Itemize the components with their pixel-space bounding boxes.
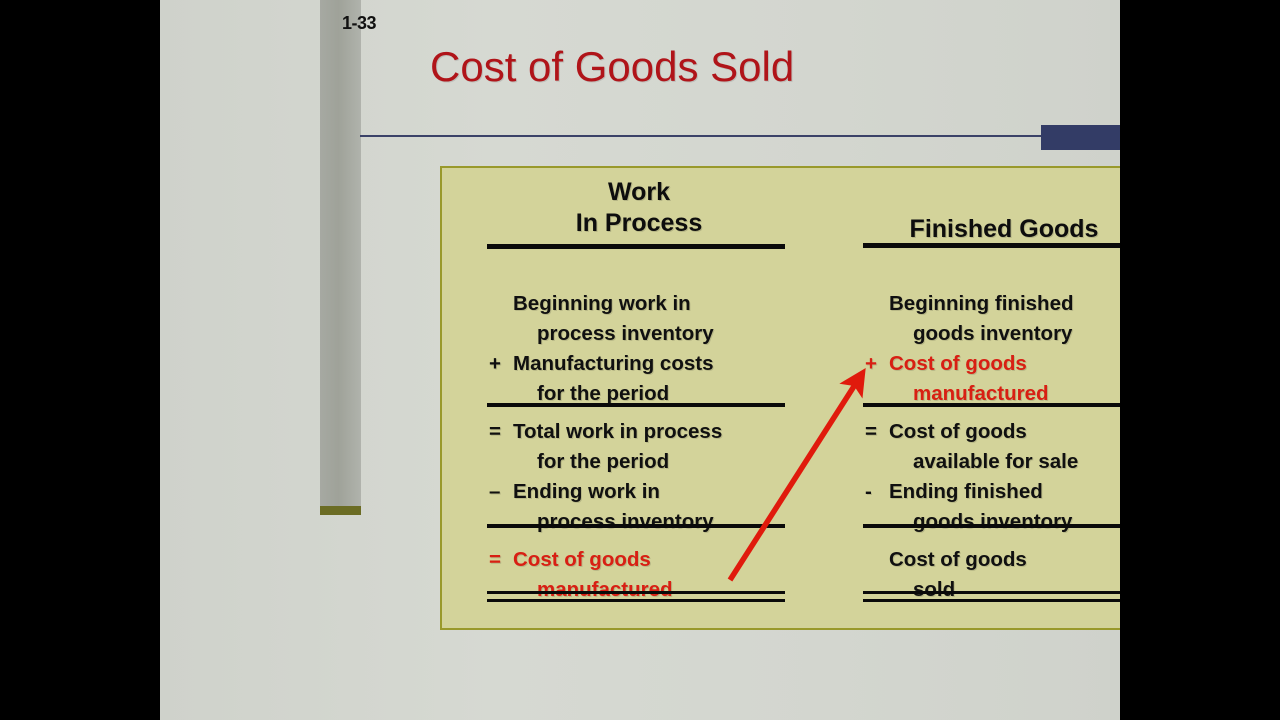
fg-subtotal-rule [863, 403, 1120, 407]
total-rule-gap [865, 537, 1120, 545]
cost-flow-panel: Work In Process Beginning work in proces… [440, 166, 1120, 630]
page-title: Cost of Goods Sold [430, 43, 794, 91]
item-line-1: Total work in process [513, 417, 789, 447]
item-line-2: process inventory [537, 319, 789, 349]
list-item: Beginning work in process inventory [489, 289, 789, 349]
item-line-2: for the period [537, 447, 789, 477]
work-in-process-heading-line2: In Process [489, 208, 789, 239]
item-line-1: Cost of goods [513, 545, 789, 575]
operator: = [489, 417, 507, 447]
work-in-process-heading: Work In Process [489, 168, 789, 238]
letterbox-bar-left [0, 0, 160, 720]
operator: - [865, 477, 883, 507]
left-decorative-band-foot [320, 506, 361, 515]
finished-goods-items: Beginning finished goods inventory + Cos… [865, 289, 1120, 605]
item-line-1: Beginning finished [889, 289, 1120, 319]
item-line-1: Cost of goods [889, 349, 1120, 379]
fg-heading-underline [863, 243, 1120, 248]
wip-double-rule-bottom [487, 599, 785, 602]
letterbox-bar-right [1120, 0, 1280, 720]
item-line-2: goods inventory [913, 319, 1120, 349]
total-rule-gap [489, 537, 789, 545]
slide-stage: 1-33 Cost of Goods Sold Work In Process … [160, 0, 1120, 720]
item-line-1: Cost of goods [889, 417, 1120, 447]
list-item: + Manufacturing costs for the period [489, 349, 789, 409]
subtotal-rule-gap [489, 409, 789, 417]
header-divider-rule [360, 135, 1120, 137]
item-line-2: goods inventory [913, 507, 1120, 537]
fg-double-rule-bottom [863, 599, 1120, 602]
list-item: - Ending finished goods inventory [865, 477, 1120, 537]
operator: + [489, 349, 507, 379]
fg-total-rule [863, 524, 1120, 528]
work-in-process-heading-line1: Work [489, 177, 789, 208]
finished-goods-column: Finished Goods Beginning finished goods … [865, 168, 1120, 245]
item-line-2: process inventory [537, 507, 789, 537]
operator: = [489, 545, 507, 575]
wip-subtotal-rule [487, 403, 785, 407]
wip-double-rule-top [487, 591, 785, 594]
item-line-1: Manufacturing costs [513, 349, 789, 379]
list-item-cost-of-goods-sold: Cost of goods sold [865, 545, 1120, 605]
slide-number: 1-33 [342, 13, 376, 34]
subtotal-rule-gap [865, 409, 1120, 417]
finished-goods-heading: Finished Goods [865, 168, 1120, 245]
item-line-1: Ending work in [513, 477, 789, 507]
list-item-cost-of-goods-manufactured: = Cost of goods manufactured [489, 545, 789, 605]
work-in-process-column: Work In Process Beginning work in proces… [489, 168, 789, 238]
list-item: Beginning finished goods inventory [865, 289, 1120, 349]
header-accent-block [1041, 125, 1120, 150]
wip-total-rule [487, 524, 785, 528]
operator: + [865, 349, 883, 379]
item-line-1: Cost of goods [889, 545, 1120, 575]
left-decorative-band [320, 0, 361, 506]
list-item: – Ending work in process inventory [489, 477, 789, 537]
finished-goods-heading-line1: Finished Goods [865, 214, 1120, 245]
list-item: = Total work in process for the period [489, 417, 789, 477]
list-item-cost-of-goods-manufactured: + Cost of goods manufactured [865, 349, 1120, 409]
list-item: = Cost of goods available for sale [865, 417, 1120, 477]
item-line-2: available for sale [913, 447, 1120, 477]
item-line-1: Ending finished [889, 477, 1120, 507]
wip-heading-underline [487, 244, 785, 249]
fg-double-rule-top [863, 591, 1120, 594]
work-in-process-items: Beginning work in process inventory + Ma… [489, 289, 789, 605]
item-line-1: Beginning work in [513, 289, 789, 319]
operator: = [865, 417, 883, 447]
operator: – [489, 477, 507, 507]
